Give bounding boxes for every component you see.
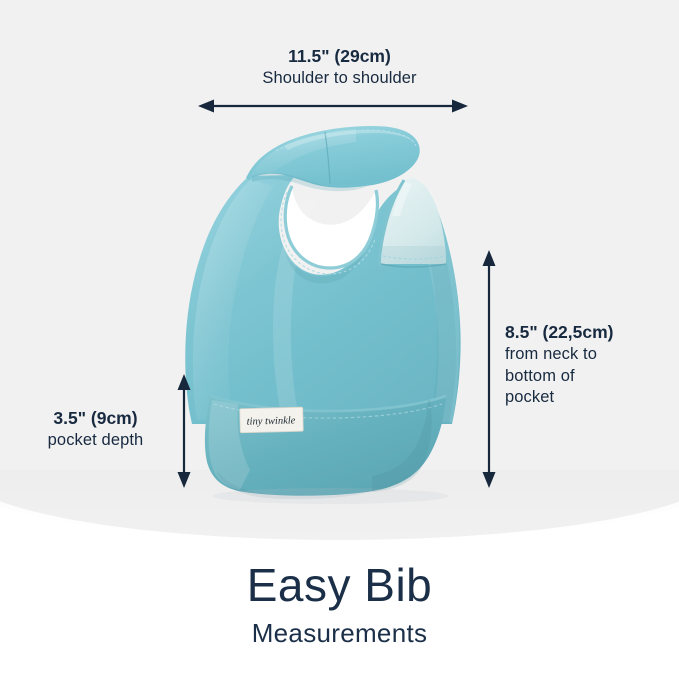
- shoulder-measurement-value: 11.5" (29cm): [0, 46, 679, 68]
- page-subtitle: Measurements: [0, 620, 679, 646]
- brand-tag-text: tiny twinkle: [247, 415, 296, 427]
- brand-tag: tiny twinkle: [240, 407, 304, 433]
- pocket-depth-measurement-value: 3.5" (9cm): [18, 408, 173, 430]
- bib-drop-shadow: [212, 488, 448, 504]
- pocket-depth-measurement-description: pocket depth: [18, 430, 173, 452]
- neck-to-pocket-measure-arrow: [478, 250, 500, 488]
- pocket-depth-measurement-label: 3.5" (9cm) pocket depth: [18, 408, 173, 452]
- shoulder-measurement-description: Shoulder to shoulder: [0, 68, 679, 90]
- bib-shoulder-fold: [380, 178, 446, 267]
- measurement-infographic: tiny twinkle 11.5" (29cm) Shoulder to sh…: [0, 0, 679, 679]
- neck-to-pocket-description-line-1: from neck to: [505, 344, 614, 366]
- shoulder-fold-mesh-shade: [382, 246, 446, 264]
- title-block: Easy Bib Measurements: [0, 562, 679, 646]
- page-title: Easy Bib: [0, 562, 679, 608]
- neck-to-pocket-measurement-label: 8.5" (22,5cm) from neck to bottom of poc…: [505, 322, 614, 409]
- neck-to-pocket-description-line-2: bottom of: [505, 366, 614, 388]
- shoulder-measurement-label: 11.5" (29cm) Shoulder to shoulder: [0, 46, 679, 90]
- shoulder-measure-arrow: [198, 96, 468, 116]
- pocket-depth-measure-arrow: [173, 374, 195, 488]
- neck-to-pocket-measurement-value: 8.5" (22,5cm): [505, 322, 614, 344]
- neck-to-pocket-description-line-3: pocket: [505, 387, 614, 409]
